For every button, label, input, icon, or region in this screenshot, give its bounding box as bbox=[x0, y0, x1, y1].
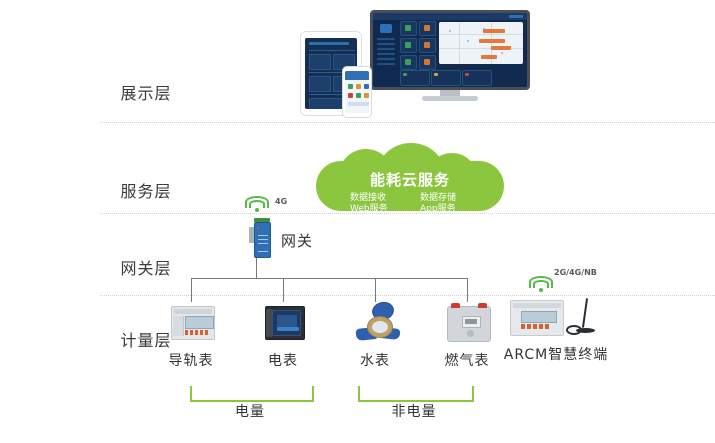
terminal-label: ARCM智慧终端 bbox=[482, 344, 630, 364]
layer-divider-1 bbox=[100, 122, 715, 123]
connector-bus bbox=[191, 278, 467, 279]
wifi-signal-icon bbox=[246, 196, 268, 212]
cloud-title: 能耗云服务 bbox=[316, 169, 504, 190]
gateway-icon bbox=[249, 218, 275, 258]
gateway-network-label: 4G bbox=[275, 197, 287, 206]
cloud-service-item-1: Web服务 bbox=[350, 201, 388, 214]
display-layer-devices bbox=[300, 8, 535, 120]
antenna-icon bbox=[566, 298, 596, 338]
terminal-network-label: 2G/4G/NB bbox=[554, 268, 597, 277]
din-rail-meter-icon bbox=[171, 306, 215, 340]
layer-label-gateway: 网关层 bbox=[100, 255, 192, 279]
water-meter-icon bbox=[355, 302, 401, 346]
connector-drop-2 bbox=[375, 278, 376, 302]
meter-electricity: 电表 bbox=[237, 302, 329, 370]
phone-icon bbox=[342, 66, 372, 118]
connector-drop-0 bbox=[191, 278, 192, 302]
meter-label-electricity: 电表 bbox=[237, 350, 329, 370]
meter-label-water: 水表 bbox=[329, 350, 421, 370]
group-bracket-non-electricity bbox=[358, 386, 474, 402]
gas-meter-icon bbox=[447, 306, 491, 342]
meter-din-rail: 导轨表 bbox=[145, 302, 237, 370]
layer-label-service: 服务层 bbox=[100, 178, 192, 202]
gateway-label: 网关 bbox=[281, 230, 313, 251]
connector-gateway-trunk bbox=[256, 258, 257, 278]
group-label-electricity: 电量 bbox=[190, 401, 310, 421]
connector-drop-1 bbox=[283, 278, 284, 302]
electricity-meter-icon bbox=[265, 306, 305, 340]
meter-water: 水表 bbox=[329, 302, 421, 370]
group-label-non-electricity: 非电量 bbox=[358, 401, 470, 421]
architecture-diagram: 展示层 服务层 网关层 计量层 bbox=[0, 0, 715, 443]
meter-label-din-rail: 导轨表 bbox=[145, 350, 237, 370]
wifi-signal-icon bbox=[530, 276, 552, 292]
arcm-terminal-icon bbox=[510, 300, 564, 336]
cloud-service-item-3: App服务 bbox=[420, 201, 456, 214]
layer-label-display: 展示层 bbox=[100, 80, 192, 104]
connector-drop-3 bbox=[467, 278, 468, 302]
group-bracket-electricity bbox=[190, 386, 314, 402]
layer-divider-3 bbox=[100, 295, 715, 296]
gateway-device-group: 4G 网关 bbox=[243, 196, 363, 258]
arcm-terminal-group: 2G/4G/NB ARCM智慧终端 bbox=[492, 268, 620, 376]
monitor-icon bbox=[370, 10, 530, 100]
